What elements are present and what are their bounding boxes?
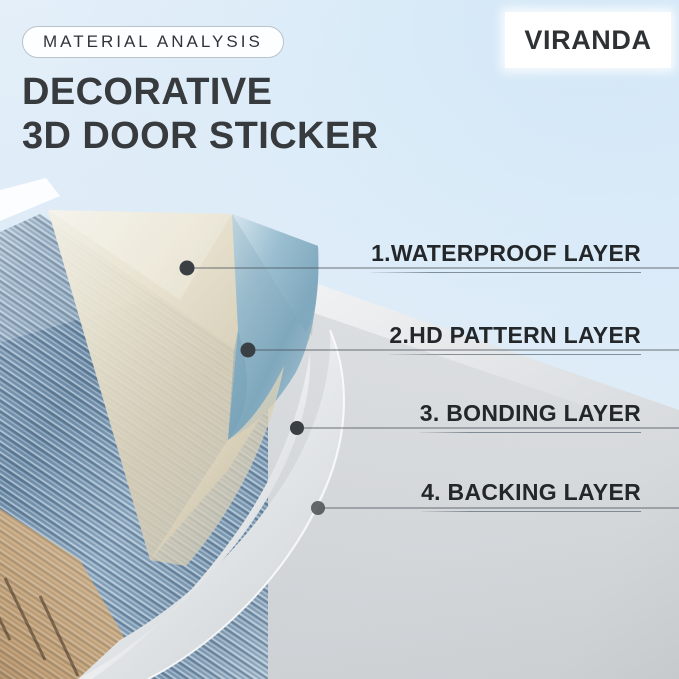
callout-rule-4	[421, 511, 641, 512]
eyebrow-label: MATERIAL ANALYSIS	[43, 32, 263, 52]
callout-label-4: 4. BACKING LAYER	[421, 479, 641, 511]
page-title: DECORATIVE 3D DOOR STICKER	[22, 70, 452, 158]
leader-dot-bonding-layer	[290, 421, 304, 435]
callout-label-3: 3. BONDING LAYER	[420, 400, 641, 432]
callout-label-1: 1.WATERPROOF LAYER	[371, 240, 641, 272]
callout-hd-pattern-layer: 2.HD PATTERN LAYER	[389, 322, 641, 355]
title-line-1: DECORATIVE	[22, 70, 452, 114]
leader-dot-hd-pattern-layer	[241, 343, 256, 358]
callout-backing-layer: 4. BACKING LAYER	[421, 479, 641, 512]
eyebrow-badge: MATERIAL ANALYSIS	[22, 26, 284, 58]
callout-rule-2	[389, 354, 641, 355]
title-line-2: 3D DOOR STICKER	[22, 114, 452, 158]
poster-root: MATERIAL ANALYSIS DECORATIVE 3D DOOR STI…	[0, 0, 679, 679]
callout-rule-3	[420, 432, 641, 433]
leader-dot-waterproof-layer	[180, 261, 195, 276]
brand-name: VIRANDA	[524, 25, 651, 56]
brand-logo-box: VIRANDA	[505, 12, 671, 68]
callout-waterproof-layer: 1.WATERPROOF LAYER	[371, 240, 641, 273]
leader-dot-backing-layer	[311, 501, 325, 515]
callout-bonding-layer: 3. BONDING LAYER	[420, 400, 641, 433]
callout-rule-1	[371, 272, 641, 273]
callout-label-2: 2.HD PATTERN LAYER	[389, 322, 641, 354]
